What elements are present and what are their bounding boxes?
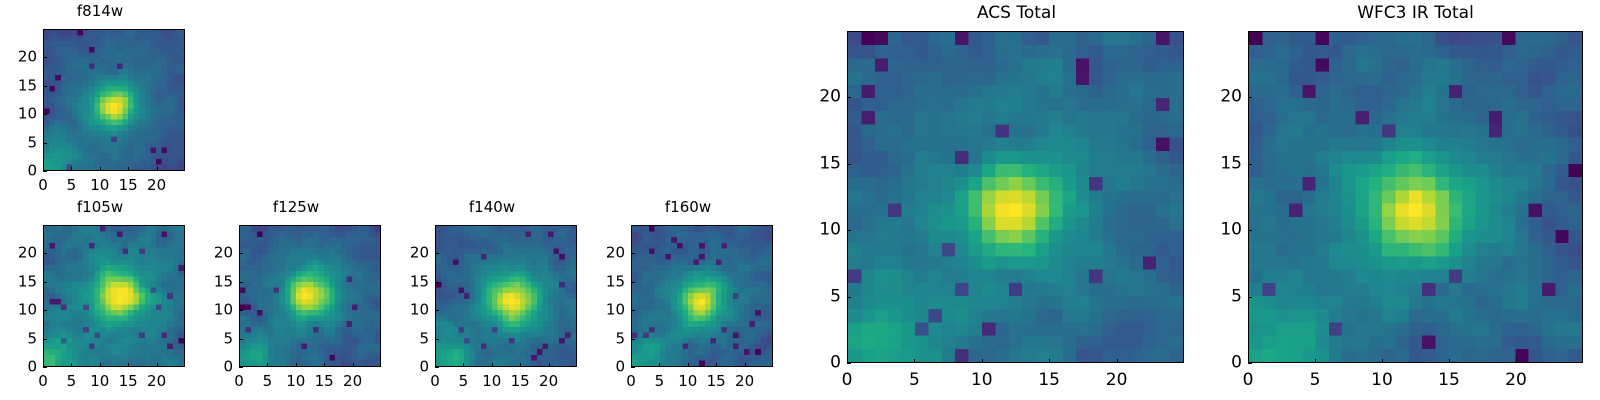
y-tick-f105w-15 [43,282,47,283]
y-tick-label-f140w-20: 20 [393,246,429,261]
y-tick-f125w-5 [239,339,243,340]
y-tick-f105w-0 [43,367,47,368]
y-tick-label-acs_total-5: 5 [805,288,841,305]
x-tick-wfc3_ir_total-10 [1382,359,1383,363]
y-tick-label-f125w-10: 10 [197,303,233,318]
x-tick-label-f105w-5: 5 [67,374,77,389]
x-tick-label-acs_total-10: 10 [971,372,993,389]
y-tick-acs_total-10 [847,230,851,231]
y-tick-label-f140w-15: 15 [393,274,429,289]
x-tick-wfc3_ir_total-20 [1516,359,1517,363]
x-tick-acs_total-10 [982,359,983,363]
x-tick-wfc3_ir_total-5 [1315,359,1316,363]
x-tick-f160w-15 [716,363,717,367]
heatmap-f105w[interactable] [43,225,185,367]
y-tick-f814w-0 [43,171,47,172]
y-tick-label-wfc3_ir_total-5: 5 [1206,288,1242,305]
y-tick-f125w-0 [239,367,243,368]
y-tick-label-f160w-0: 0 [589,360,625,375]
y-tick-label-f125w-5: 5 [197,331,233,346]
y-tick-f140w-15 [435,282,439,283]
x-tick-f160w-5 [659,363,660,367]
panel-title-f125w: f125w [196,200,396,215]
y-tick-f160w-15 [631,282,635,283]
x-tick-label-f140w-0: 0 [430,374,440,389]
x-tick-label-acs_total-0: 0 [842,372,853,389]
y-tick-label-wfc3_ir_total-10: 10 [1206,222,1242,239]
x-tick-label-f814w-15: 15 [119,178,138,193]
y-tick-label-f125w-0: 0 [197,360,233,375]
y-tick-f140w-20 [435,253,439,254]
y-tick-label-acs_total-10: 10 [805,222,841,239]
y-tick-wfc3_ir_total-15 [1248,164,1252,165]
heatmap-image-wfc3_ir_total [1249,32,1582,362]
heatmap-image-f160w [632,226,772,366]
y-tick-label-wfc3_ir_total-15: 15 [1206,155,1242,172]
x-tick-f105w-5 [71,363,72,367]
x-tick-label-f140w-10: 10 [482,374,501,389]
y-tick-label-acs_total-0: 0 [805,355,841,372]
y-tick-label-f160w-5: 5 [589,331,625,346]
x-tick-f160w-10 [688,363,689,367]
y-tick-f105w-20 [43,253,47,254]
panel-title-f105w: f105w [0,200,200,215]
heatmap-image-f105w [44,226,184,366]
x-tick-f814w-15 [128,167,129,171]
y-tick-f160w-10 [631,310,635,311]
x-tick-f160w-20 [745,363,746,367]
x-tick-label-wfc3_ir_total-10: 10 [1371,372,1393,389]
y-tick-f160w-20 [631,253,635,254]
x-tick-wfc3_ir_total-15 [1449,359,1450,363]
x-tick-label-acs_total-5: 5 [909,372,920,389]
x-tick-f814w-10 [100,167,101,171]
y-tick-f125w-10 [239,310,243,311]
x-tick-f814w-5 [71,167,72,171]
y-tick-acs_total-15 [847,164,851,165]
x-tick-f125w-20 [353,363,354,367]
x-tick-f125w-15 [324,363,325,367]
y-tick-label-f814w-10: 10 [1,107,37,122]
heatmap-acs-total[interactable] [847,31,1184,363]
y-tick-label-f160w-15: 15 [589,274,625,289]
y-tick-f140w-10 [435,310,439,311]
x-tick-label-f125w-10: 10 [286,374,305,389]
x-tick-label-wfc3_ir_total-0: 0 [1243,372,1254,389]
x-tick-label-acs_total-20: 20 [1106,372,1128,389]
panel-wfc3-ir-total: WFC3 IR Total 0510152005101520 [1200,0,1600,400]
x-tick-label-wfc3_ir_total-5: 5 [1310,372,1321,389]
x-tick-label-f125w-15: 15 [315,374,334,389]
y-tick-label-f814w-15: 15 [1,78,37,93]
y-tick-f160w-5 [631,339,635,340]
y-tick-label-f105w-20: 20 [1,246,37,261]
y-tick-label-f125w-20: 20 [197,246,233,261]
y-tick-f125w-20 [239,253,243,254]
x-tick-f140w-5 [463,363,464,367]
x-tick-label-f160w-10: 10 [678,374,697,389]
y-tick-label-f140w-5: 5 [393,331,429,346]
x-tick-label-f140w-5: 5 [459,374,469,389]
y-tick-acs_total-20 [847,97,851,98]
panel-title-f140w: f140w [392,200,592,215]
heatmap-f125w[interactable] [239,225,381,367]
y-tick-label-acs_total-20: 20 [805,89,841,106]
y-tick-label-f105w-15: 15 [1,274,37,289]
y-tick-f125w-15 [239,282,243,283]
y-tick-label-f105w-0: 0 [1,360,37,375]
x-tick-label-f814w-0: 0 [38,178,48,193]
x-tick-label-f140w-20: 20 [539,374,558,389]
x-tick-label-f125w-5: 5 [263,374,273,389]
y-tick-acs_total-0 [847,363,851,364]
y-tick-f105w-5 [43,339,47,340]
panel-f814w: f814w 0510152005101520 [0,0,200,190]
y-tick-wfc3_ir_total-5 [1248,297,1252,298]
y-tick-label-acs_total-15: 15 [805,155,841,172]
x-tick-label-f105w-10: 10 [90,374,109,389]
heatmap-f814w[interactable] [43,29,185,171]
x-tick-acs_total-15 [1049,359,1050,363]
x-tick-label-f105w-15: 15 [119,374,138,389]
x-tick-acs_total-5 [914,359,915,363]
x-tick-label-f125w-0: 0 [234,374,244,389]
x-tick-label-f814w-5: 5 [67,178,77,193]
y-tick-label-f105w-10: 10 [1,303,37,318]
x-tick-label-f125w-20: 20 [343,374,362,389]
x-tick-label-f105w-20: 20 [147,374,166,389]
y-tick-f814w-15 [43,86,47,87]
x-tick-f105w-20 [157,363,158,367]
y-tick-wfc3_ir_total-10 [1248,230,1252,231]
y-tick-acs_total-5 [847,297,851,298]
x-tick-label-f160w-20: 20 [735,374,754,389]
y-tick-f140w-5 [435,339,439,340]
x-tick-f105w-10 [100,363,101,367]
heatmap-wfc3-ir-total[interactable] [1248,31,1583,363]
x-tick-f814w-20 [157,167,158,171]
x-tick-label-wfc3_ir_total-15: 15 [1438,372,1460,389]
panel-acs-total: ACS Total 0510152005101520 [800,0,1190,400]
panel-title-f814w: f814w [0,4,200,19]
x-tick-f140w-15 [520,363,521,367]
x-tick-label-f105w-0: 0 [38,374,48,389]
y-tick-label-f814w-5: 5 [1,135,37,150]
x-tick-label-f140w-15: 15 [511,374,530,389]
y-tick-label-wfc3_ir_total-20: 20 [1206,89,1242,106]
y-tick-label-wfc3_ir_total-0: 0 [1206,355,1242,372]
y-tick-label-f814w-20: 20 [1,50,37,65]
y-tick-label-f125w-15: 15 [197,274,233,289]
x-tick-f140w-10 [492,363,493,367]
heatmap-image-f814w [44,30,184,170]
x-tick-f105w-15 [128,363,129,367]
panel-title-wfc3-ir-total: WFC3 IR Total [1248,5,1583,22]
y-tick-f814w-10 [43,114,47,115]
x-tick-f125w-10 [296,363,297,367]
panel-title-acs-total: ACS Total [848,5,1185,22]
y-tick-label-f160w-20: 20 [589,246,625,261]
panel-f105w: f105w 0510152005101520 [0,196,200,400]
panel-f125w: f125w 0510152005101520 [196,196,396,400]
panel-title-f160w: f160w [588,200,788,215]
x-tick-label-f814w-20: 20 [147,178,166,193]
x-tick-label-f814w-10: 10 [90,178,109,193]
y-tick-wfc3_ir_total-0 [1248,363,1252,364]
x-tick-label-acs_total-15: 15 [1038,372,1060,389]
y-tick-label-f160w-10: 10 [589,303,625,318]
heatmap-image-acs_total [848,32,1183,362]
y-tick-label-f140w-0: 0 [393,360,429,375]
x-tick-label-f160w-15: 15 [707,374,726,389]
x-tick-label-f160w-5: 5 [655,374,665,389]
x-tick-f140w-20 [549,363,550,367]
panel-f160w: f160w 0510152005101520 [588,196,788,400]
x-tick-label-wfc3_ir_total-20: 20 [1505,372,1527,389]
y-tick-f160w-0 [631,367,635,368]
heatmap-f140w[interactable] [435,225,577,367]
y-tick-label-f105w-5: 5 [1,331,37,346]
y-tick-f814w-20 [43,57,47,58]
heatmap-image-f140w [436,226,576,366]
x-tick-label-f160w-0: 0 [626,374,636,389]
y-tick-f105w-10 [43,310,47,311]
panel-f140w: f140w 0510152005101520 [392,196,592,400]
y-tick-label-f814w-0: 0 [1,164,37,179]
y-tick-wfc3_ir_total-20 [1248,97,1252,98]
y-tick-label-f140w-10: 10 [393,303,429,318]
x-tick-acs_total-20 [1117,359,1118,363]
x-tick-f125w-5 [267,363,268,367]
y-tick-f140w-0 [435,367,439,368]
y-tick-f814w-5 [43,143,47,144]
heatmap-image-f125w [240,226,380,366]
figure-canvas: f814w 0510152005101520 f105w 05101520051… [0,0,1600,400]
heatmap-f160w[interactable] [631,225,773,367]
